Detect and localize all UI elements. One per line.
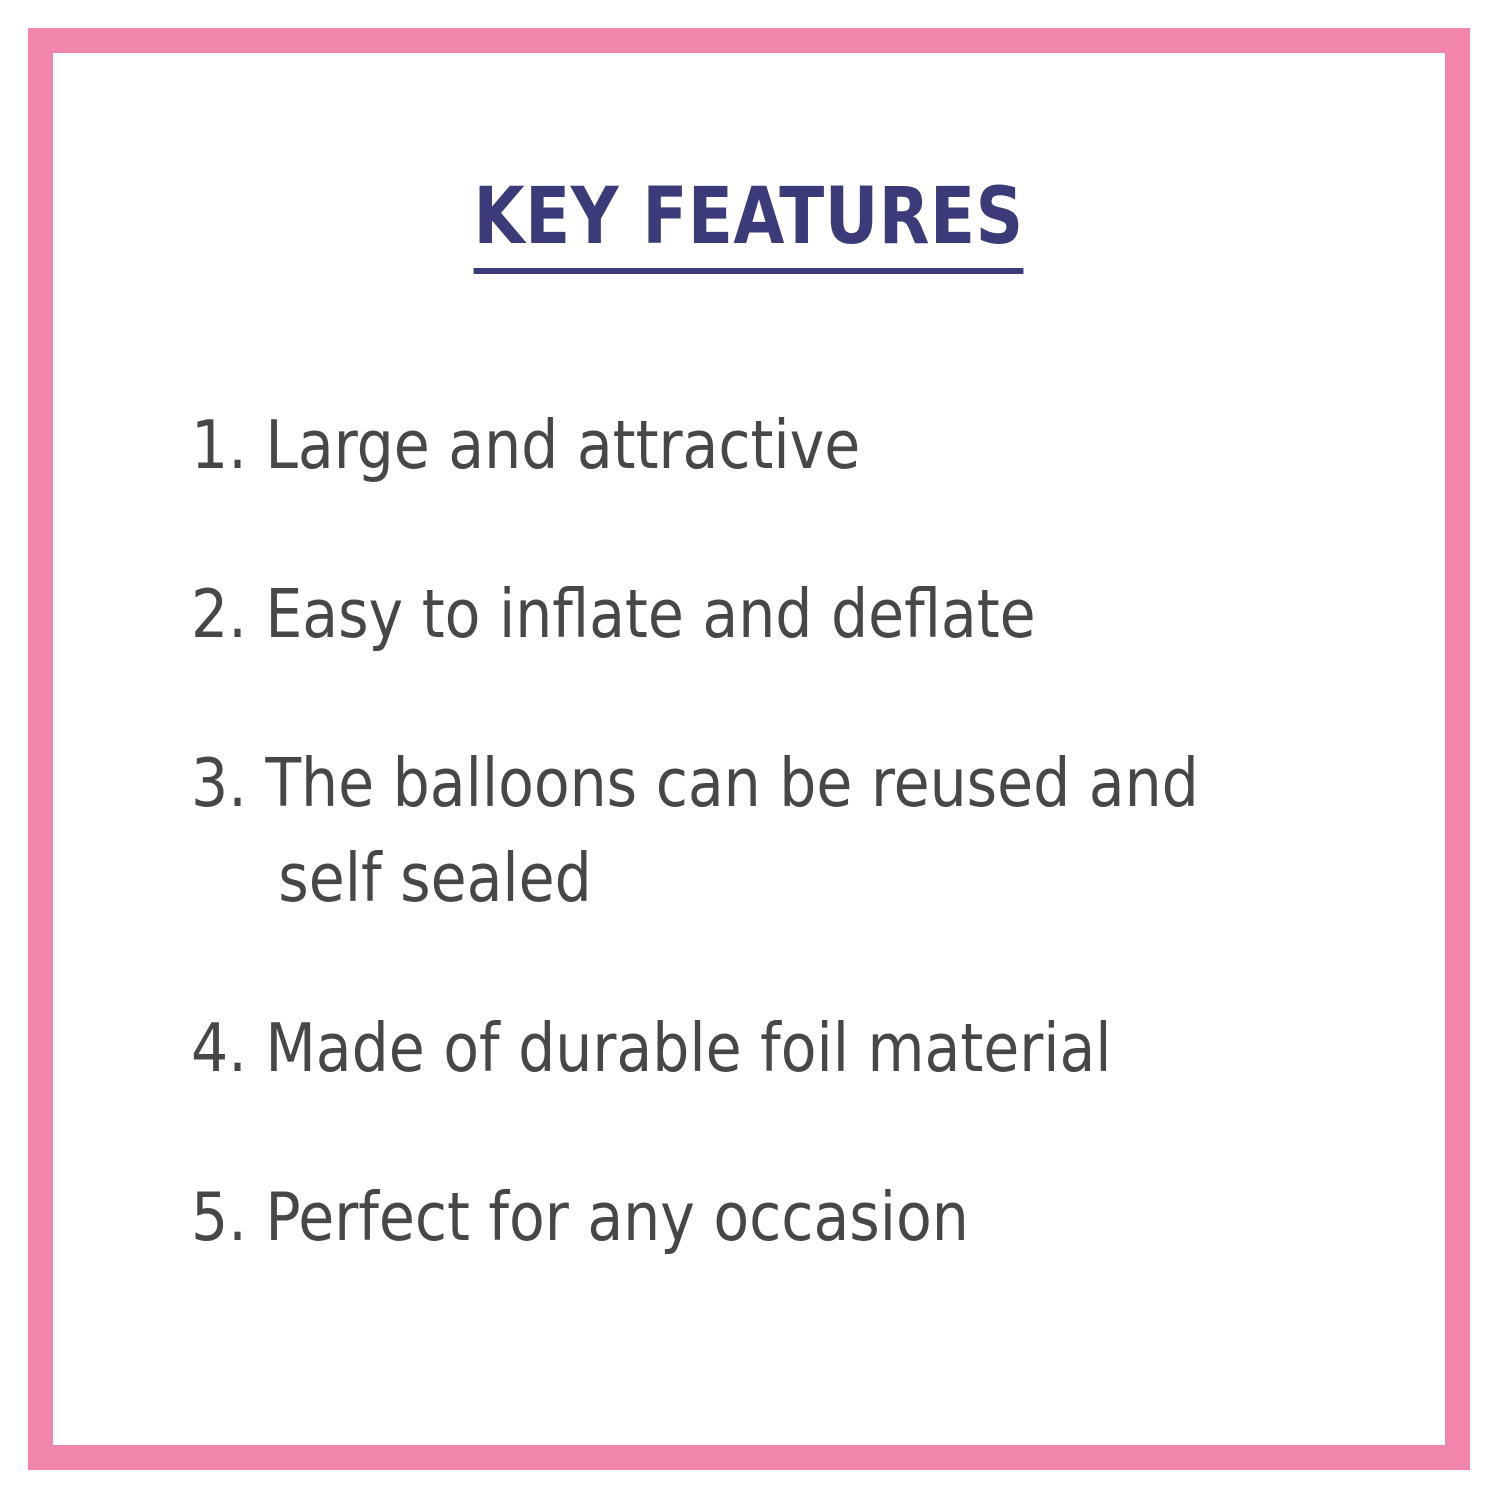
feature-list: 1. Large and attractive 2. Easy to infla… (191, 398, 1421, 1265)
page-title-container: KEY FEATURES (53, 178, 1445, 274)
card-content: KEY FEATURES 1. Large and attractive 2. … (53, 53, 1445, 1445)
feature-item-4-text: 4. Made of durable foil material (191, 1009, 1112, 1087)
feature-item-2-text: 2. Easy to inflate and deflate (191, 575, 1036, 653)
feature-item-3-text-line-2: self sealed (191, 831, 1384, 926)
feature-item-3-text-line-1: 3. The balloons can be reused and (191, 744, 1199, 822)
list-item: 1. Large and attractive (191, 398, 1384, 493)
list-item: 3. The balloons can be reused and self s… (191, 736, 1384, 926)
list-item: 5. Perfect for any occasion (191, 1170, 1384, 1265)
list-item: 4. Made of durable foil material (191, 1001, 1384, 1096)
page-title: KEY FEATURES (474, 178, 1024, 274)
feature-item-5-text: 5. Perfect for any occasion (191, 1178, 969, 1256)
list-item: 2. Easy to inflate and deflate (191, 567, 1384, 662)
key-features-card: KEY FEATURES 1. Large and attractive 2. … (0, 0, 1500, 1500)
feature-item-1-text: 1. Large and attractive (191, 406, 860, 484)
